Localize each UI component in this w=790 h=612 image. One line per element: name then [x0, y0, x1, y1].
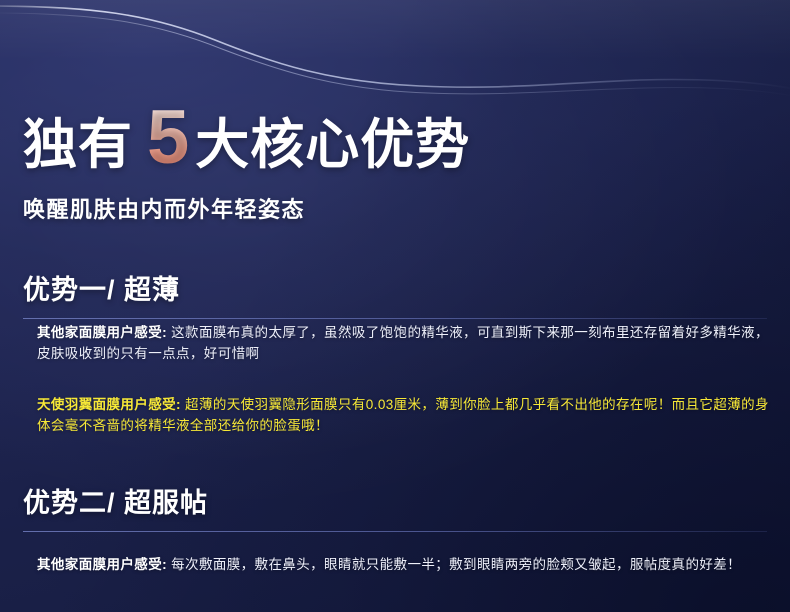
hero-block: 独有 5 大核心优势 唤醒肌肤由内而外年轻姿态	[23, 100, 470, 224]
page-stage: 独有 5 大核心优势 唤醒肌肤由内而外年轻姿态 优势一/ 超薄 其他家面膜用户感…	[0, 0, 790, 612]
paragraph-angel-wings-thin: 天使羽翼面膜用户感受: 超薄的天使羽翼隐形面膜只有0.03厘米，薄到你脸上都几乎…	[37, 394, 781, 436]
section-advantage-two: 优势二/ 超服帖	[23, 481, 767, 532]
paragraph-lead: 天使羽翼面膜用户感受:	[37, 397, 181, 412]
section-advantage-one: 优势一/ 超薄	[23, 268, 767, 319]
headline-prefix: 独有	[23, 118, 133, 172]
paragraph-other-brand-thin: 其他家面膜用户感受: 这款面膜布真的太厚了，虽然吸了饱饱的精华液，可直到斯下来那…	[37, 322, 781, 364]
hero-subheadline: 唤醒肌肤由内而外年轻姿态	[23, 192, 470, 224]
section-title: 优势二/ 超服帖	[23, 481, 767, 520]
hero-headline: 独有 5 大核心优势	[23, 100, 470, 176]
headline-number: 5	[147, 100, 189, 176]
headline-suffix: 大核心优势	[195, 118, 470, 172]
paragraph-body: 每次敷面膜，敷在鼻头，眼睛就只能敷一半；敷到眼睛两旁的脸颊又皱起，服帖度真的好差…	[167, 557, 741, 572]
paragraph-lead: 其他家面膜用户感受:	[37, 325, 167, 340]
section-divider	[23, 531, 767, 532]
section-divider	[23, 318, 767, 319]
section-title: 优势一/ 超薄	[23, 268, 767, 307]
paragraph-other-brand-fit: 其他家面膜用户感受: 每次敷面膜，敷在鼻头，眼睛就只能敷一半；敷到眼睛两旁的脸颊…	[37, 554, 781, 575]
paragraph-lead: 其他家面膜用户感受:	[37, 557, 167, 572]
